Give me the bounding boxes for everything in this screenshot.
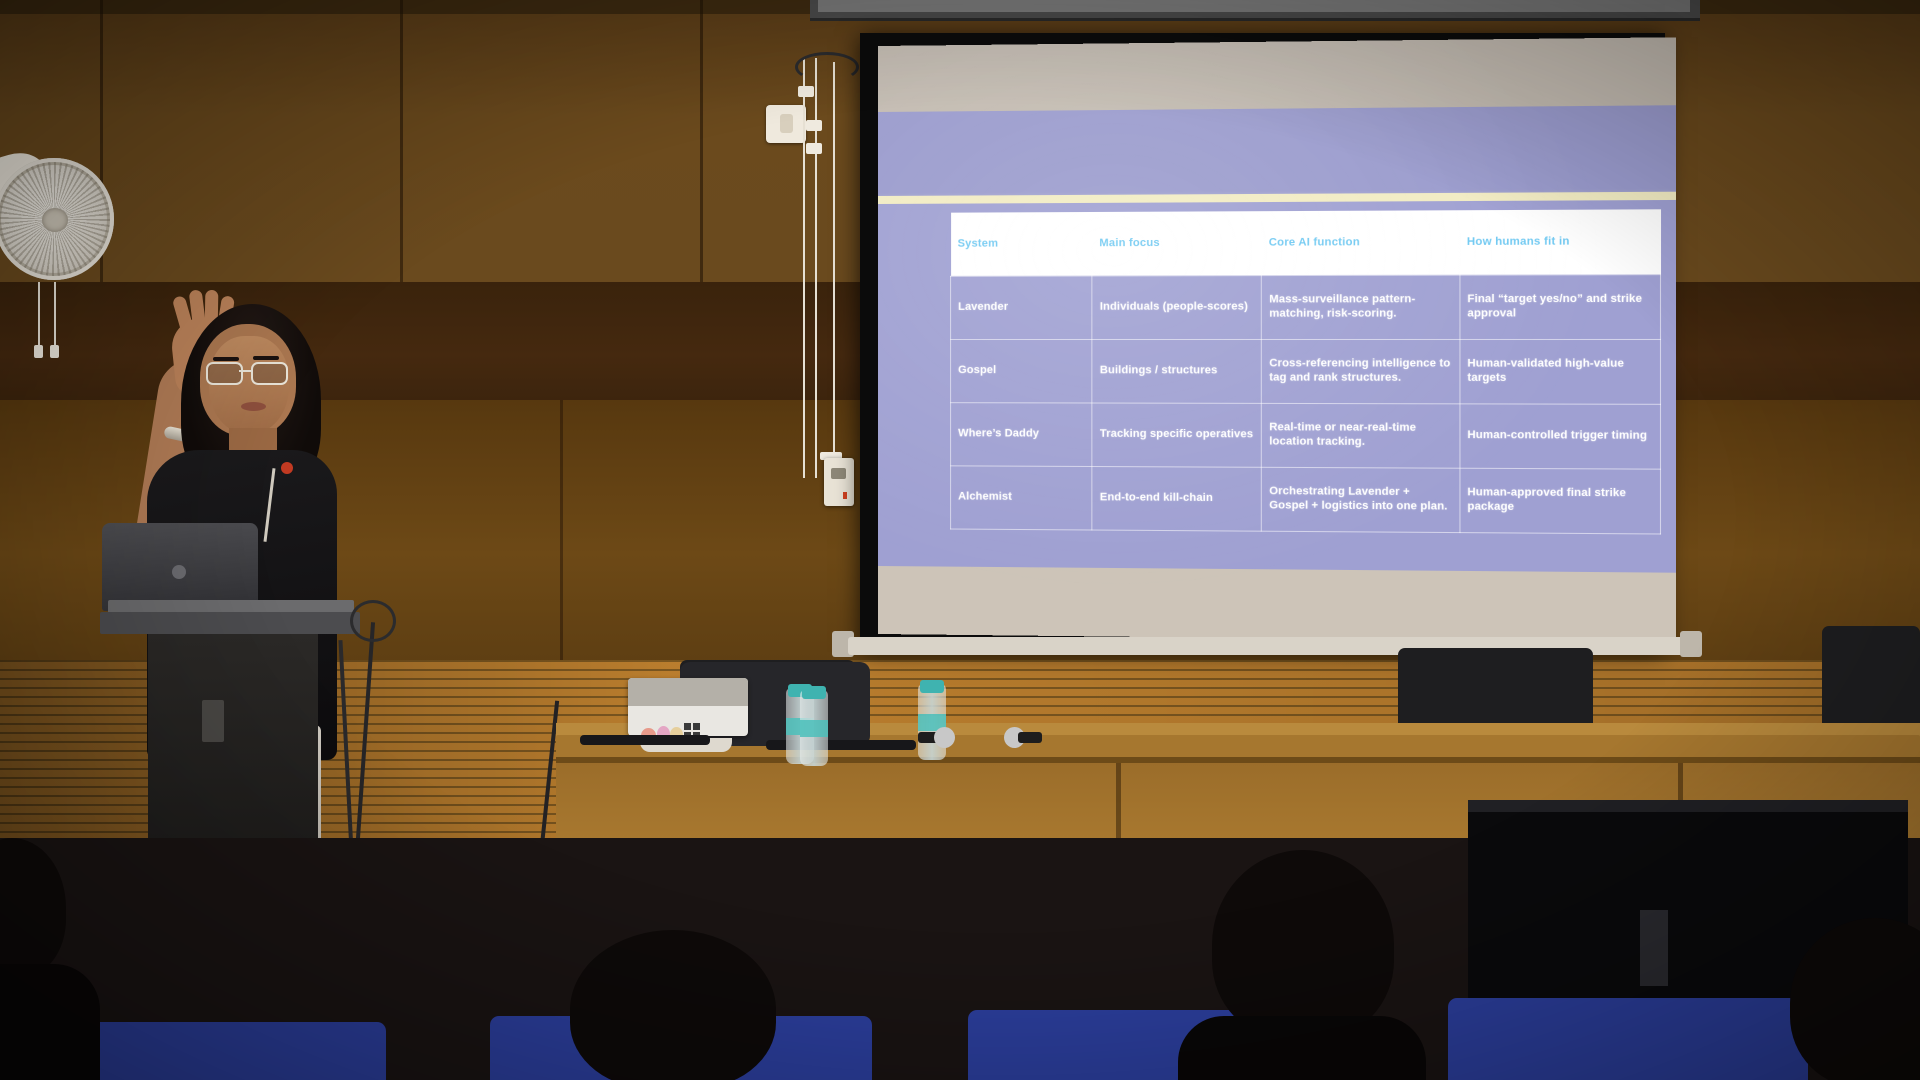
glasses-bridge xyxy=(239,370,251,372)
cell-main-focus: End-to-end kill-chain xyxy=(1092,466,1261,531)
slide-top-band xyxy=(878,37,1676,112)
wall-panel-line xyxy=(700,0,703,290)
table-row: Alchemist End-to-end kill-chain Orchestr… xyxy=(951,465,1661,533)
column-header-system: System xyxy=(951,212,1093,276)
panel-chair[interactable] xyxy=(1822,626,1920,736)
cell-main-focus: Tracking specific operatives xyxy=(1092,402,1261,466)
fan-cord-tip[interactable] xyxy=(50,345,59,358)
column-header-main-focus: Main focus xyxy=(1092,211,1261,275)
slide-comparison-table: System Main focus Core AI function How h… xyxy=(950,209,1661,534)
column-header-how-humans-fit-in: How humans fit in xyxy=(1460,209,1661,274)
wall-fan[interactable] xyxy=(0,158,118,286)
audience-member-center-right xyxy=(1212,850,1394,1040)
eyeglasses xyxy=(206,362,290,382)
cable-loop xyxy=(350,600,396,642)
handheld-microphone[interactable] xyxy=(1004,726,1038,748)
mouth xyxy=(241,402,266,411)
audience-shoulders xyxy=(0,964,100,1080)
cell-how-humans-fit-in: Human-approved final strike package xyxy=(1460,468,1661,534)
cell-main-focus: Individuals (people-scores) xyxy=(1092,275,1261,339)
fan-cord-tip[interactable] xyxy=(34,345,43,358)
podium-control-panel[interactable] xyxy=(202,700,224,742)
desk-laptop-lid xyxy=(628,678,748,706)
face xyxy=(209,336,289,434)
wall-panel-line xyxy=(560,400,563,670)
eyebrow xyxy=(253,356,279,360)
projector-control-box[interactable] xyxy=(824,458,854,506)
bottle-label xyxy=(800,720,828,737)
power-cable xyxy=(803,58,805,478)
monitor-stand xyxy=(1640,910,1668,986)
mic-head-icon xyxy=(934,727,955,748)
microphone-icon[interactable] xyxy=(281,462,293,474)
lecture-hall-scene: System Main focus Core AI function How h… xyxy=(0,0,1920,1080)
table-row: Where’s Daddy Tracking specific operativ… xyxy=(951,402,1661,468)
cell-system: Alchemist xyxy=(951,465,1093,529)
table-microphone[interactable] xyxy=(580,735,710,745)
cable-loop xyxy=(795,52,859,82)
cell-main-focus: Buildings / structures xyxy=(1092,339,1261,403)
glasses-lens xyxy=(251,362,288,385)
table-row: Gospel Buildings / structures Cross-refe… xyxy=(951,339,1661,404)
fan-hub xyxy=(42,208,68,232)
bottle-cap-icon xyxy=(920,680,944,693)
glasses-lens xyxy=(206,362,243,385)
cell-system: Lavender xyxy=(951,275,1093,339)
table-row: Lavender Individuals (people-scores) Mas… xyxy=(951,274,1661,339)
ceiling-beam-inner xyxy=(818,0,1690,12)
cable-clamp xyxy=(806,143,822,154)
cable-clamp xyxy=(806,120,822,131)
socket-plug xyxy=(780,114,793,133)
control-box-button[interactable] xyxy=(831,468,846,479)
mic-body xyxy=(1018,732,1042,743)
table-header-row: System Main focus Core AI function How h… xyxy=(951,209,1661,276)
monitor-bezel xyxy=(1468,800,1908,812)
screen-roller-right-cap xyxy=(1680,631,1702,657)
cell-core-ai-function: Orchestrating Lavender + Gospel + logist… xyxy=(1262,467,1460,532)
cell-how-humans-fit-in: Final “target yes/no” and strike approva… xyxy=(1460,274,1661,339)
laptop-logo-icon xyxy=(172,565,186,579)
wall-panel-line xyxy=(400,0,403,290)
cell-system: Where’s Daddy xyxy=(951,402,1093,466)
projection-screen-surface: System Main focus Core AI function How h… xyxy=(878,37,1676,642)
slide-bottom-band xyxy=(878,566,1676,643)
cable-clamp xyxy=(798,86,814,97)
column-header-core-ai-function: Core AI function xyxy=(1262,210,1460,275)
control-box-led-icon xyxy=(843,492,847,499)
cell-core-ai-function: Cross-referencing intelligence to tag an… xyxy=(1262,339,1460,403)
eyebrow xyxy=(213,357,239,361)
fan-pull-cord[interactable] xyxy=(54,282,56,348)
audience-shoulders xyxy=(1178,1016,1426,1080)
cell-core-ai-function: Real-time or near-real-time location tra… xyxy=(1262,403,1460,468)
fan-pull-cord[interactable] xyxy=(38,282,40,348)
podium-top-surface xyxy=(100,612,360,634)
handheld-microphone[interactable] xyxy=(918,726,952,748)
power-cable xyxy=(833,62,835,462)
audience-seat[interactable] xyxy=(1448,998,1808,1080)
cell-system: Gospel xyxy=(951,339,1093,403)
cell-how-humans-fit-in: Human-validated high-value targets xyxy=(1460,339,1661,404)
audience-member-center-left xyxy=(570,930,776,1080)
presentation-slide: System Main focus Core AI function How h… xyxy=(878,37,1676,572)
cell-core-ai-function: Mass-surveillance pattern-matching, risk… xyxy=(1262,275,1460,339)
bottle-cap-icon xyxy=(802,686,826,699)
slide-title-band xyxy=(878,105,1676,200)
cell-how-humans-fit-in: Human-controlled trigger timing xyxy=(1460,403,1661,468)
